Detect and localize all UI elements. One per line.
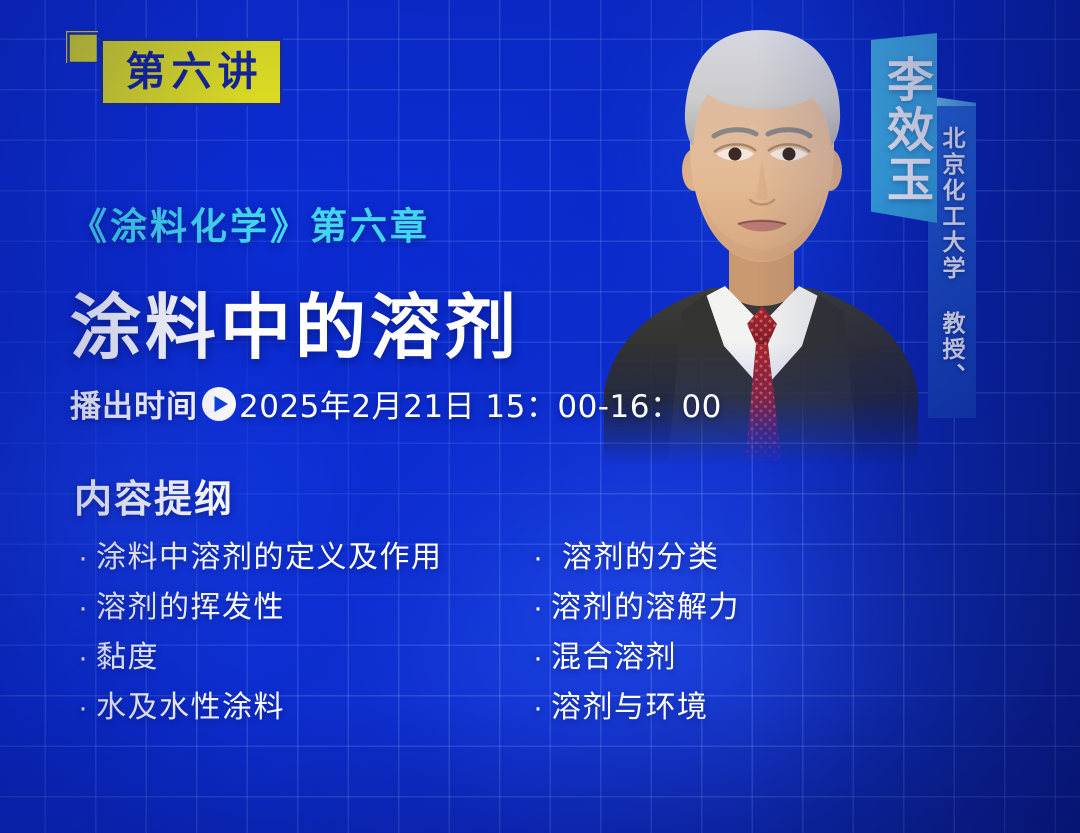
lecture-poster: 北京化工大学 教授、博导 李效玉 第六讲 《涂料化学》第六章 涂料中的溶剂 播出… — [0, 0, 1080, 833]
background-vignette — [0, 0, 1080, 833]
